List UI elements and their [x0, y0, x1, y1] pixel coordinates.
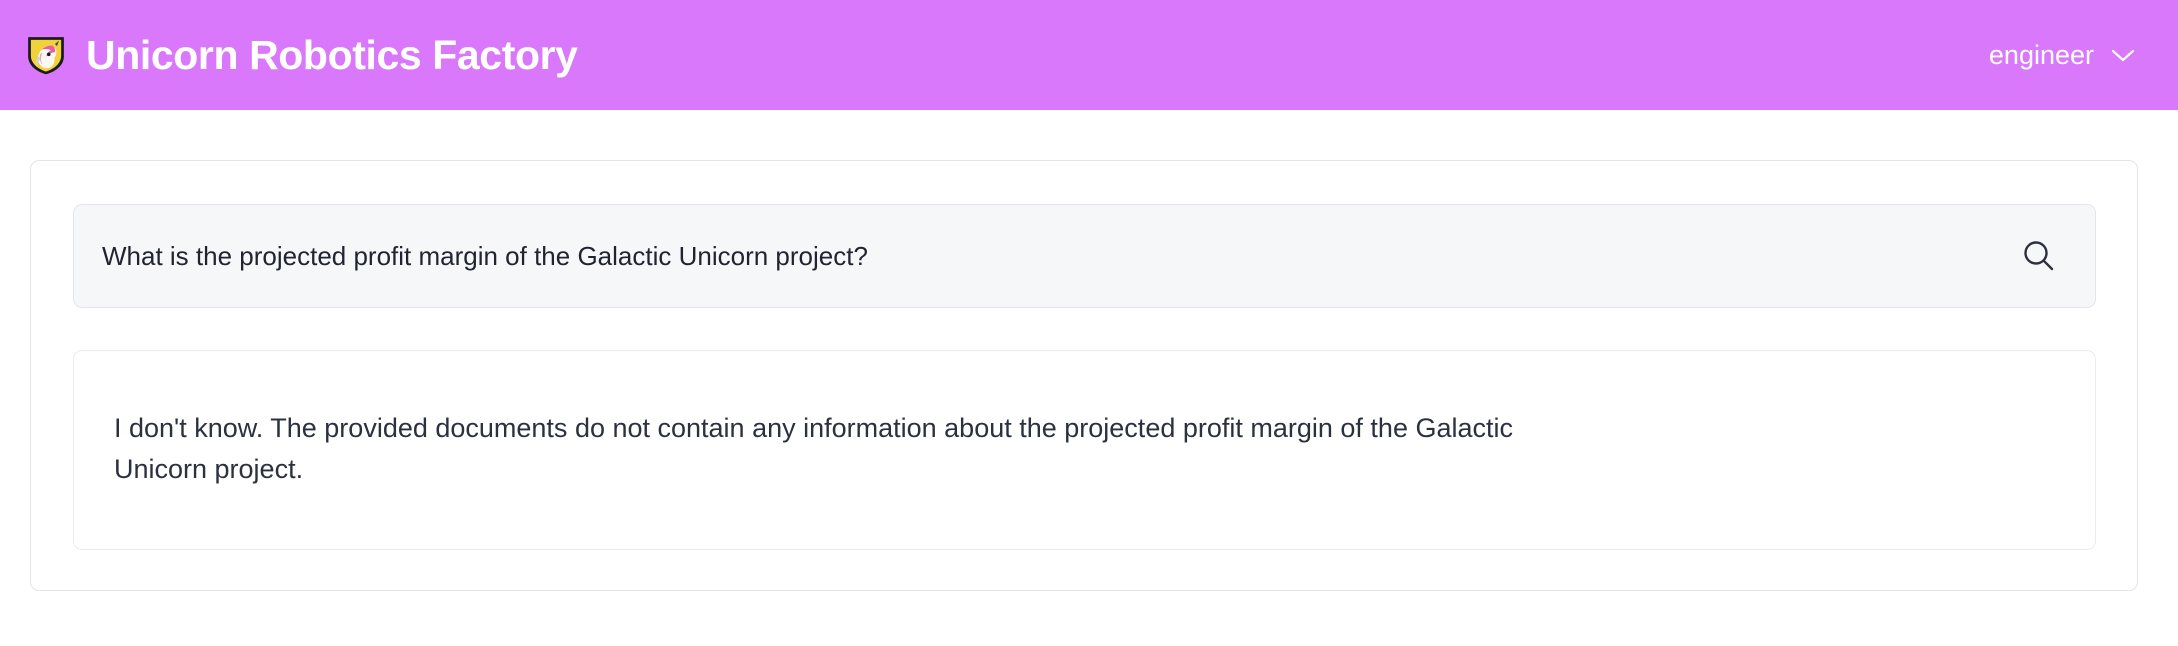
brand: Unicorn Robotics Factory	[24, 33, 578, 77]
main-content: I don't know. The provided documents do …	[0, 110, 2178, 591]
answer-box: I don't know. The provided documents do …	[73, 350, 2096, 550]
user-menu[interactable]: engineer	[1985, 36, 2140, 75]
qa-card: I don't know. The provided documents do …	[30, 160, 2138, 591]
user-menu-label: engineer	[1989, 42, 2094, 69]
search-input[interactable]	[102, 241, 1993, 272]
search-icon	[2020, 237, 2058, 275]
answer-text: I don't know. The provided documents do …	[114, 408, 1534, 490]
page-title: Unicorn Robotics Factory	[86, 35, 578, 76]
unicorn-crest-icon	[24, 33, 68, 77]
search-button[interactable]	[2017, 234, 2061, 278]
app-header: Unicorn Robotics Factory engineer	[0, 0, 2178, 110]
chevron-down-icon	[2110, 47, 2136, 63]
search-box[interactable]	[73, 204, 2096, 308]
